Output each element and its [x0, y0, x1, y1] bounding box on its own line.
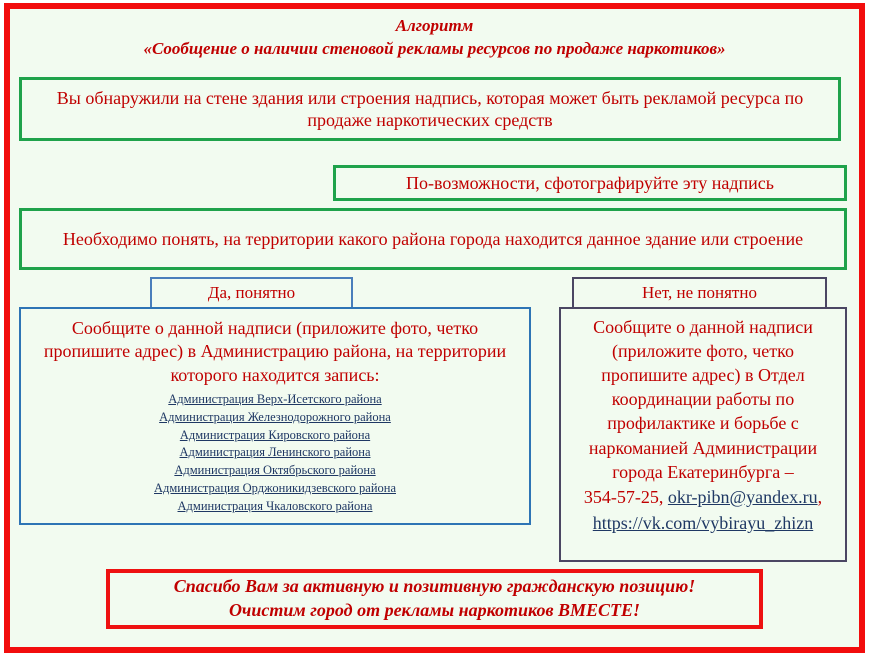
list-item: Администрация Октябрьского района — [21, 462, 529, 480]
contact-phone: 354-57-25, — [584, 487, 664, 507]
contact-email-suffix: , — [818, 487, 823, 507]
footer-thanks-text: Спасибо Вам за активную и позитивную гра… — [164, 575, 706, 623]
footer-thanks-box: Спасибо Вам за активную и позитивную гра… — [106, 569, 763, 629]
branch-yes-label-text: Да, понятно — [208, 283, 295, 303]
poster-title-line1: Алгоритм — [10, 15, 859, 36]
district-link-chkalovsky[interactable]: Администрация Чкаловского района — [178, 499, 373, 513]
district-link-list: Администрация Верх-Исетского района Адми… — [21, 391, 529, 515]
district-link-verh-isetsky[interactable]: Администрация Верх-Исетского района — [168, 392, 381, 406]
contact-email-link[interactable]: okr-pibn@yandex.ru — [668, 487, 818, 507]
list-item: Администрация Кировского района — [21, 427, 529, 445]
poster-root: Алгоритм «Сообщение о наличии стеновой р… — [0, 0, 869, 656]
poster-content: Алгоритм «Сообщение о наличии стеновой р… — [10, 9, 859, 647]
branch-no-label-text: Нет, не понятно — [642, 283, 757, 303]
branch-yes-lead: Сообщите о данной надписи (приложите фот… — [21, 317, 529, 387]
district-link-kirovsky[interactable]: Администрация Кировского района — [180, 428, 370, 442]
footer-line2: Очистим город от рекламы наркотиков ВМЕС… — [174, 599, 696, 623]
list-item: Администрация Железнодорожного района — [21, 409, 529, 427]
branch-yes-label: Да, понятно — [150, 277, 353, 309]
list-item: Администрация Орджоникидзевского района — [21, 480, 529, 498]
step-photo-text: По-возможности, сфотографируйте эту надп… — [336, 172, 844, 195]
district-link-zheleznodorozhny[interactable]: Администрация Железнодорожного района — [159, 410, 391, 424]
step-identify-district-box: Необходимо понять, на территории какого … — [19, 208, 847, 270]
list-item: Администрация Ленинского района — [21, 444, 529, 462]
district-link-ordzhonikidzevsky[interactable]: Администрация Орджоникидзевского района — [154, 481, 396, 495]
branch-no-lead: Сообщите о данной надписи (приложите фот… — [561, 315, 845, 484]
list-item: Администрация Верх-Исетского района — [21, 391, 529, 409]
step-photo-box: По-возможности, сфотографируйте эту надп… — [333, 165, 847, 201]
district-link-leninsky[interactable]: Администрация Ленинского района — [180, 445, 371, 459]
poster-title-line2: «Сообщение о наличии стеновой рекламы ре… — [10, 38, 859, 59]
branch-no-label: Нет, не понятно — [572, 277, 827, 309]
contact-vk-link[interactable]: https://vk.com/vybirayu_zhizn — [593, 513, 813, 533]
step-discovery-box: Вы обнаружили на стене здания или строен… — [19, 77, 841, 141]
branch-yes-body: Сообщите о данной надписи (приложите фот… — [19, 307, 531, 525]
step-identify-district-text: Необходимо понять, на территории какого … — [22, 228, 844, 251]
list-item: Администрация Чкаловского района — [21, 498, 529, 516]
step-discovery-text: Вы обнаружили на стене здания или строен… — [22, 87, 838, 132]
footer-line1: Спасибо Вам за активную и позитивную гра… — [174, 575, 696, 599]
district-link-oktyabrsky[interactable]: Администрация Октябрьского района — [174, 463, 375, 477]
branch-no-contact-row: 354-57-25, okr-pibn@yandex.ru, — [561, 484, 845, 510]
branch-no-body: Сообщите о данной надписи (приложите фот… — [559, 307, 847, 562]
branch-no-vk-row: https://vk.com/vybirayu_zhizn — [561, 510, 845, 536]
